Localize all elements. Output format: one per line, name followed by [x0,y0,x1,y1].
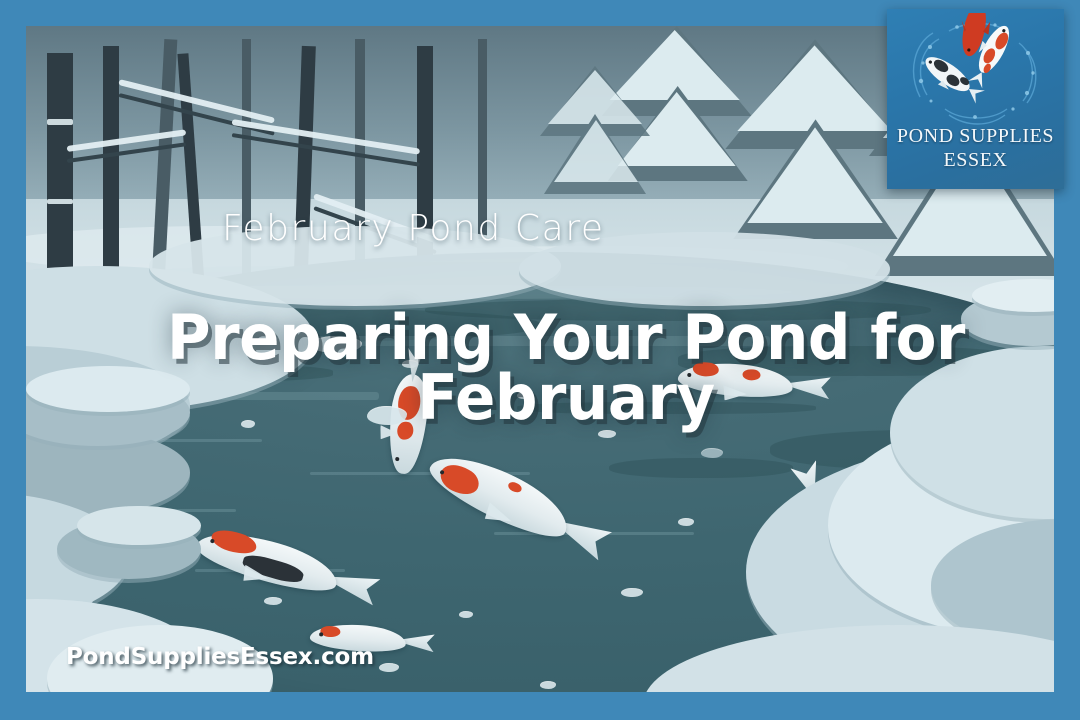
floating-ice [264,597,282,605]
koi-black-white [918,51,986,109]
kicker-text: February Pond Care [222,208,605,249]
pond-supplies-essex-logo[interactable]: POND SUPPLIES ESSEX [887,9,1064,189]
trunk-snow [47,119,73,125]
floating-ice [621,588,643,597]
headline-line-2: February [73,368,1054,428]
website-url-text[interactable]: PondSuppliesEssex.com [66,644,374,670]
snowy-conifer [540,66,650,206]
koi-circle-icon [887,13,1064,131]
logo-line-1: POND SUPPLIES [887,125,1064,149]
koi-eye [318,633,322,637]
headline-line-1: Preparing Your Pond for [73,308,1054,368]
floating-ice [540,681,556,689]
water-reflection [609,458,793,478]
logo-wordmark: POND SUPPLIES ESSEX [887,125,1064,172]
floating-ice [678,518,694,526]
floating-ice [459,611,473,618]
trunk-snow [47,199,73,204]
floating-ice [701,448,723,458]
koi-fish [192,522,342,600]
pond-care-banner: February Pond Care Preparing Your Pond f… [0,0,1080,720]
floating-ice [379,663,399,672]
snow-covered-rock [77,506,200,546]
page-title: Preparing Your Pond for February [73,308,1054,427]
logo-line-2: ESSEX [887,149,1064,173]
